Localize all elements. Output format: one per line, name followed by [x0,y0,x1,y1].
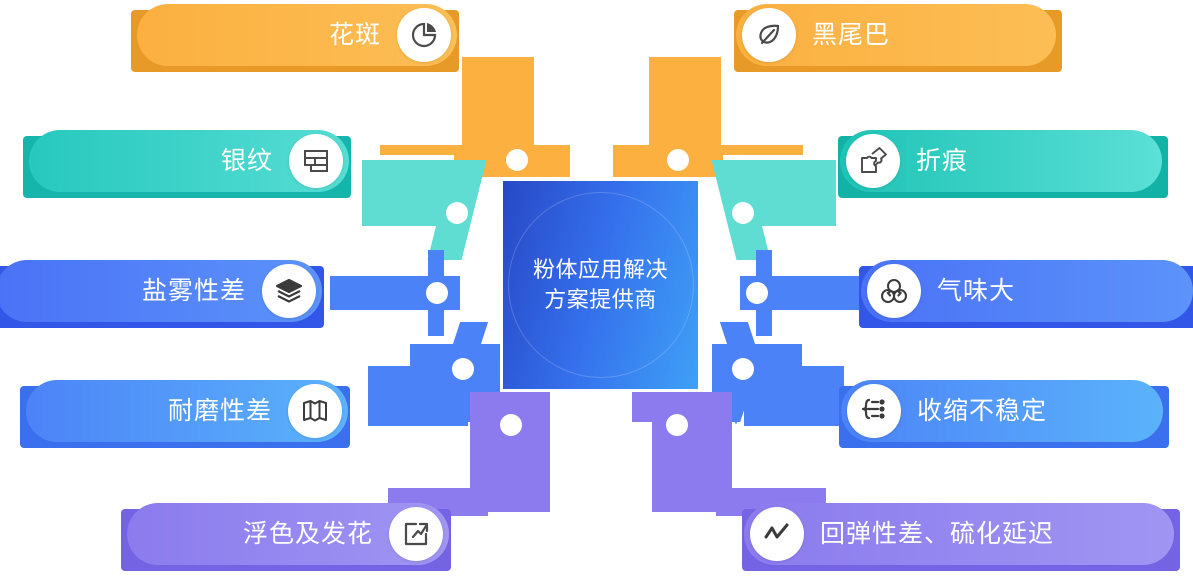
node-label: 耐磨性差 [168,399,272,424]
center-label-line1: 粉体应用解决 [533,255,668,285]
node-label: 银纹 [221,149,273,174]
connector-dot [446,202,468,224]
node-pill-naimoxingcha[interactable]: 耐磨性差 [26,380,348,442]
connector-dot [667,149,689,171]
node-label: 盐雾性差 [142,279,246,304]
node-label: 回弹性差、硫化延迟 [820,522,1054,547]
node-pill-huitanxingcha[interactable]: 回弹性差、硫化延迟 [744,503,1174,565]
connector-dot [426,282,448,304]
layers-icon [262,264,316,318]
trend-up-icon [389,507,443,561]
node-label: 折痕 [916,149,968,174]
node-label: 收缩不稳定 [917,399,1047,424]
connector-dot [500,414,522,436]
recycle-icon [867,264,921,318]
linechart-icon [750,507,804,561]
node-pill-fusejifahua[interactable]: 浮色及发花 [127,503,449,565]
node-pill-zhehen[interactable]: 折痕 [840,130,1162,192]
sitemap-icon [847,384,901,438]
connector-dot [452,358,474,380]
connector-dot [666,414,688,436]
node-label: 气味大 [937,279,1015,304]
connector-right-2 [700,266,870,328]
book-open-icon [288,384,342,438]
connector-dot [732,358,754,380]
center-node[interactable]: 粉体应用解决 方案提供商 [503,181,698,389]
pie-chart-icon [397,8,451,62]
node-pill-shousuobuwending[interactable]: 收缩不稳定 [841,380,1163,442]
connector-left-4 [448,392,588,522]
brick-wall-icon [289,134,343,188]
node-label: 黑尾巴 [812,23,890,48]
node-label: 浮色及发花 [243,522,373,547]
node-pill-qiweida[interactable]: 气味大 [861,260,1193,322]
connector-dot [746,282,768,304]
connector-left-2 [330,266,500,328]
node-pill-yanwuxingcha[interactable]: 盐雾性差 [0,260,322,322]
node-pill-huaban[interactable]: 花斑 [137,4,457,66]
diagram-canvas: 粉体应用解决 方案提供商 花斑 银纹 [0,0,1193,577]
leaf-icon [742,8,796,62]
puzzle-icon [846,134,900,188]
node-label: 花斑 [329,23,381,48]
node-pill-heiweiba[interactable]: 黑尾巴 [736,4,1056,66]
connector-dot [732,202,754,224]
center-label: 粉体应用解决 方案提供商 [503,181,698,389]
center-label-line2: 方案提供商 [544,285,657,315]
node-pill-yinwen[interactable]: 银纹 [29,130,349,192]
